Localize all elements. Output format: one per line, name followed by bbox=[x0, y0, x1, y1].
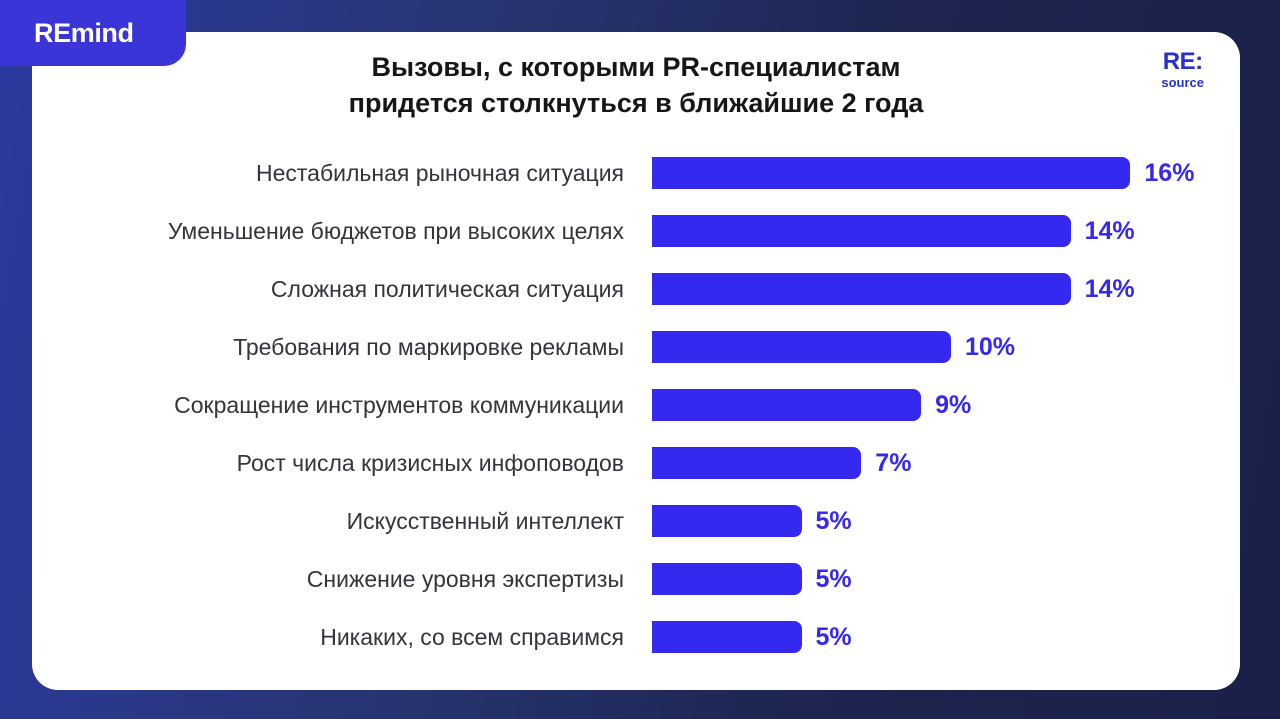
bar-row: Нестабильная рыночная ситуация16% bbox=[32, 144, 1240, 202]
bar-track: 5% bbox=[652, 608, 1240, 666]
bar-row: Сложная политическая ситуация14% bbox=[32, 260, 1240, 318]
bar-value-label: 14% bbox=[1085, 217, 1135, 246]
bar-track: 10% bbox=[652, 318, 1240, 376]
bar-fill bbox=[652, 331, 951, 363]
bar-track: 16% bbox=[652, 144, 1240, 202]
bar-track: 14% bbox=[652, 260, 1240, 318]
page-title: Вызовы, с которыми PR-специалистам приде… bbox=[32, 50, 1240, 121]
bar-row: Искусственный интеллект5% bbox=[32, 492, 1240, 550]
bar-category-label: Рост числа кризисных инфоповодов bbox=[32, 450, 652, 477]
bar-fill bbox=[652, 215, 1071, 247]
bar-category-label: Сокращение инструментов коммуникации bbox=[32, 392, 652, 419]
brand-badge-label: REmind bbox=[34, 18, 134, 49]
bar-row: Никаких, со всем справимся5% bbox=[32, 608, 1240, 666]
bar-category-label: Сложная политическая ситуация bbox=[32, 276, 652, 303]
bar-category-label: Нестабильная рыночная ситуация bbox=[32, 160, 652, 187]
bar-category-label: Никаких, со всем справимся bbox=[32, 624, 652, 651]
bar-track: 5% bbox=[652, 550, 1240, 608]
bar-value-label: 7% bbox=[875, 449, 911, 478]
bar-row: Рост числа кризисных инфоповодов7% bbox=[32, 434, 1240, 492]
bar-category-label: Искусственный интеллект bbox=[32, 508, 652, 535]
bar-fill bbox=[652, 563, 802, 595]
bar-fill bbox=[652, 389, 921, 421]
bar-track: 7% bbox=[652, 434, 1240, 492]
bar-track: 14% bbox=[652, 202, 1240, 260]
bar-value-label: 10% bbox=[965, 333, 1015, 362]
chart-card: RE: source Вызовы, с которыми PR-специал… bbox=[32, 32, 1240, 690]
bar-category-label: Снижение уровня экспертизы bbox=[32, 566, 652, 593]
bar-chart: Нестабильная рыночная ситуация16%Уменьше… bbox=[32, 144, 1240, 690]
bar-fill bbox=[652, 621, 802, 653]
page-title-line-1: Вызовы, с которыми PR-специалистам bbox=[262, 50, 1010, 86]
bar-row: Требования по маркировке рекламы10% bbox=[32, 318, 1240, 376]
bar-track: 9% bbox=[652, 376, 1240, 434]
brand-badge: REmind bbox=[0, 0, 186, 66]
bar-value-label: 5% bbox=[816, 565, 852, 594]
bar-value-label: 5% bbox=[816, 623, 852, 652]
bar-value-label: 14% bbox=[1085, 275, 1135, 304]
bar-category-label: Требования по маркировке рекламы bbox=[32, 334, 652, 361]
bar-row: Сокращение инструментов коммуникации9% bbox=[32, 376, 1240, 434]
bar-fill bbox=[652, 157, 1130, 189]
bar-value-label: 5% bbox=[816, 507, 852, 536]
bar-fill bbox=[652, 447, 861, 479]
bar-value-label: 16% bbox=[1144, 159, 1194, 188]
bar-category-label: Уменьшение бюджетов при высоких целях bbox=[32, 218, 652, 245]
page-title-line-2: придется столкнуться в ближайшие 2 года bbox=[262, 86, 1010, 122]
bar-row: Снижение уровня экспертизы5% bbox=[32, 550, 1240, 608]
bar-fill bbox=[652, 273, 1071, 305]
bar-fill bbox=[652, 505, 802, 537]
bar-track: 5% bbox=[652, 492, 1240, 550]
bar-value-label: 9% bbox=[935, 391, 971, 420]
bar-row: Уменьшение бюджетов при высоких целях14% bbox=[32, 202, 1240, 260]
